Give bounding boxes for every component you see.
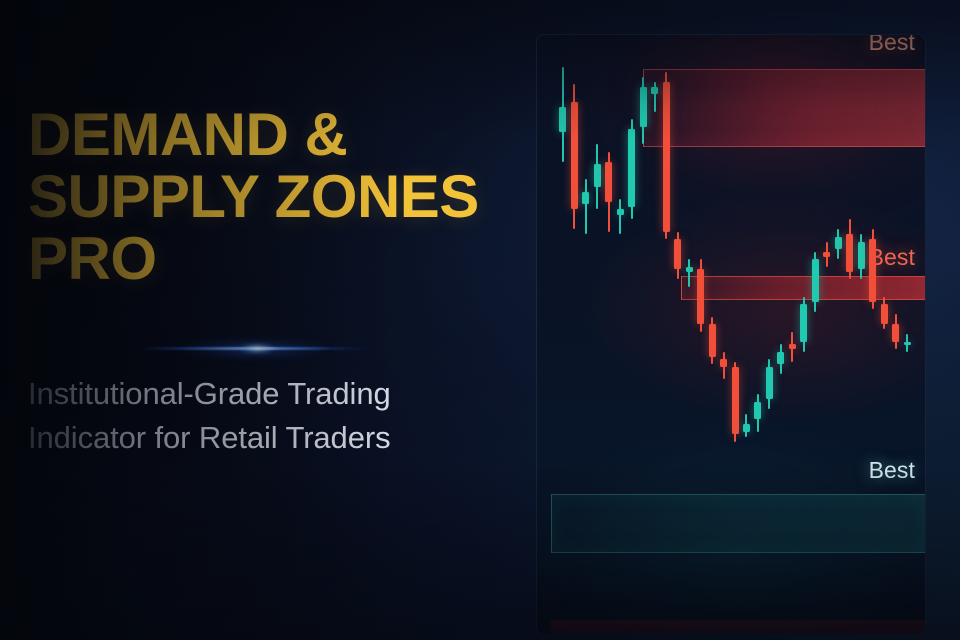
candle-body (697, 269, 704, 324)
page-subtitle: Institutional-Grade Trading Indicator fo… (28, 372, 548, 460)
candle-body (858, 242, 865, 270)
candle-body (651, 87, 658, 95)
candle-body (663, 82, 670, 232)
candle (628, 119, 635, 219)
candle (881, 297, 888, 330)
candle-body (571, 102, 578, 210)
candle-body (605, 162, 612, 202)
candle (766, 359, 773, 409)
candle (800, 297, 807, 352)
demand-zone: Best (551, 494, 926, 553)
candle (559, 67, 566, 162)
headline-block: DEMAND & SUPPLY ZONES PRO (28, 104, 538, 289)
candle (892, 314, 899, 349)
candlestick-chart-panel: Best Best Best (536, 34, 926, 634)
candle-body (823, 252, 830, 257)
flare-core (138, 347, 368, 350)
candle-body (686, 267, 693, 272)
flare-hotspot (234, 343, 280, 354)
candle-body (709, 324, 716, 357)
candle-body (594, 164, 601, 187)
demand-zone-fill (551, 494, 926, 553)
candle-body (904, 342, 911, 345)
candle-body (881, 304, 888, 324)
headline-line-1: DEMAND & (28, 104, 538, 166)
flare-halo (148, 336, 358, 362)
candle (904, 334, 911, 352)
candle-body (789, 344, 796, 349)
candle-body (640, 87, 647, 127)
candle (858, 234, 865, 279)
candle (789, 332, 796, 362)
candle (754, 394, 761, 432)
supply-zone-1-label: Best (869, 34, 915, 56)
candle (582, 179, 589, 234)
candle-wick (585, 179, 587, 234)
candle (732, 362, 739, 442)
candle (835, 229, 842, 259)
supply-zone-1-fill (643, 69, 926, 147)
candle-body (835, 237, 842, 250)
candle (617, 199, 624, 234)
page-title: DEMAND & SUPPLY ZONES PRO (28, 104, 538, 289)
candle (777, 344, 784, 374)
candle-body (812, 259, 819, 302)
candle-body (674, 239, 681, 269)
candle-wick (619, 199, 621, 234)
candle-body (732, 367, 739, 435)
candle-body (720, 359, 727, 367)
supply-zone-1: Best (643, 69, 926, 147)
candle (674, 232, 681, 280)
candle-body (628, 129, 635, 207)
candle-body (754, 402, 761, 420)
candle (812, 252, 819, 312)
candle-body (777, 352, 784, 365)
candle (663, 72, 670, 240)
candle-wick (688, 259, 690, 287)
candle (640, 77, 647, 145)
candle-body (869, 239, 876, 302)
subtitle-line-2: Indicator for Retail Traders (28, 416, 548, 460)
blue-lens-flare-icon (138, 332, 368, 366)
candle-body (743, 424, 750, 432)
supply-zone-bottom-cutoff (551, 621, 926, 634)
candle (720, 352, 727, 380)
headline-line-3: PRO (28, 228, 538, 290)
candle (697, 259, 704, 332)
candle (605, 152, 612, 232)
candle-body (559, 107, 566, 132)
candle (823, 242, 830, 267)
poster-canvas: DEMAND & SUPPLY ZONES PRO Institutional-… (0, 0, 960, 640)
candle-body (582, 192, 589, 205)
candle-body (617, 209, 624, 215)
candle (651, 82, 658, 112)
candle (571, 84, 578, 229)
supply-zone-bottom-fill (551, 621, 926, 634)
candle (846, 219, 853, 279)
candle-body (766, 367, 773, 400)
subtitle-line-1: Institutional-Grade Trading (28, 372, 548, 416)
headline-line-2: SUPPLY ZONES (28, 166, 538, 228)
candle-body (846, 234, 853, 272)
candle (709, 317, 716, 365)
candle (686, 259, 693, 287)
candle-body (800, 304, 807, 342)
candle (869, 229, 876, 309)
chart-plot-area: Best Best Best (537, 35, 925, 634)
demand-zone-label: Best (869, 457, 915, 484)
candle (743, 414, 750, 437)
candle-body (892, 324, 899, 342)
candle (594, 144, 601, 209)
